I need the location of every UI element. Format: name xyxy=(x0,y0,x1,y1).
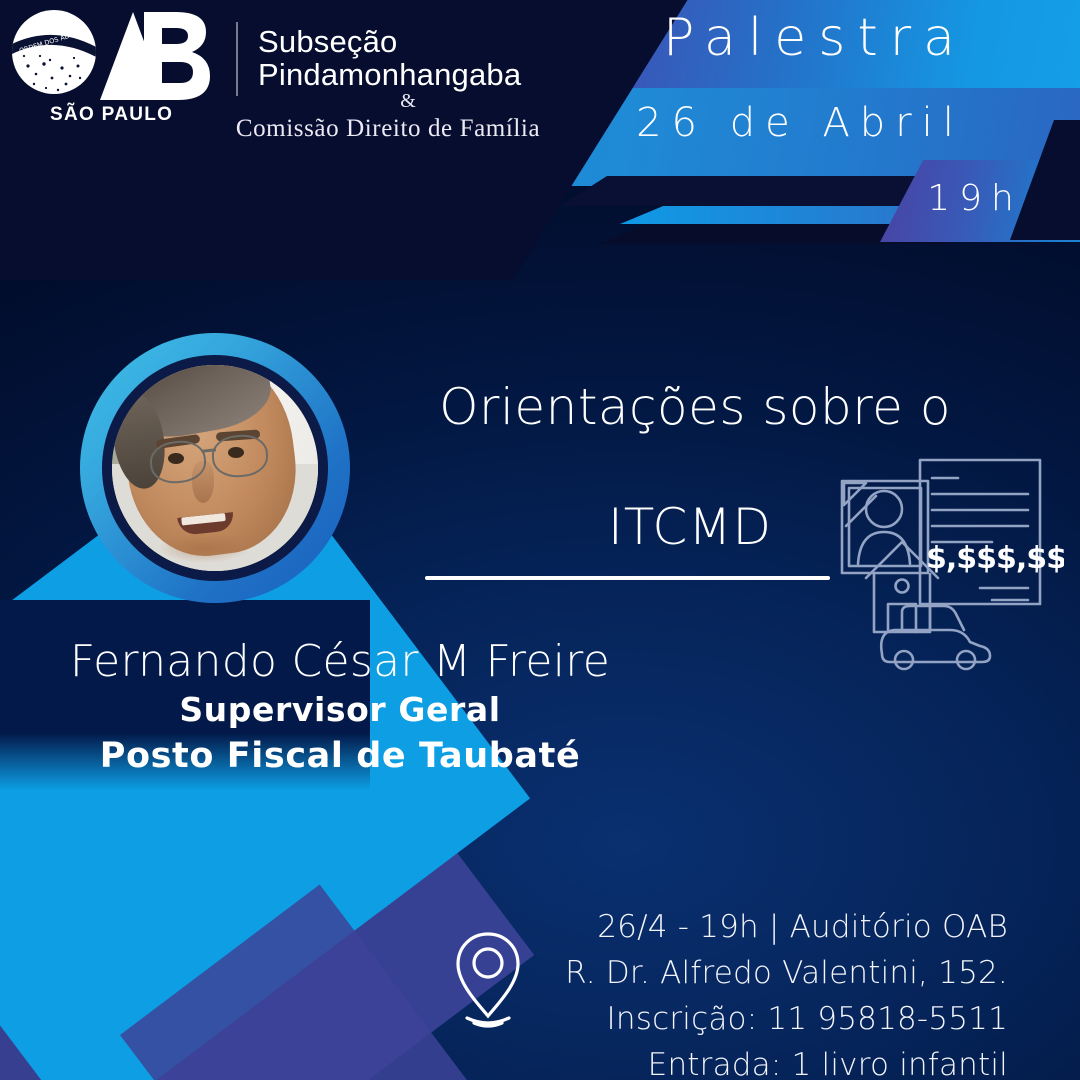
event-poster: ORDEM DOS ADVOGADOS DO BRASIL xyxy=(0,0,1080,1080)
event-date-label: 26 de Abril xyxy=(590,100,1010,146)
org-block: Subseção Pindamonhangaba & Comissão Dire… xyxy=(258,26,598,143)
speaker-avatar-inner-ring xyxy=(102,355,328,581)
org-line-2: Pindamonhangaba xyxy=(258,59,598,92)
speaker-name: Fernando César M Freire xyxy=(40,636,640,687)
oab-logo: ORDEM DOS ADVOGADOS DO BRASIL xyxy=(10,8,215,128)
event-type-label: Palestra xyxy=(600,8,1030,68)
speaker-photo xyxy=(112,365,318,571)
detail-line-entry: Entrada: 1 livro infantil xyxy=(548,1043,1008,1080)
event-time-label: 19h xyxy=(880,178,1070,219)
oab-letters-icon: ORDEM DOS ADVOGADOS DO BRASIL xyxy=(10,8,215,100)
location-pin-icon xyxy=(447,928,529,1032)
brand-divider xyxy=(236,22,238,96)
brand-header: ORDEM DOS ADVOGADOS DO BRASIL xyxy=(10,8,215,128)
commission-label: Comissão Direito de Família xyxy=(218,115,558,143)
money-amount-label: $,$$$,$$$ xyxy=(926,541,1064,576)
speaker-avatar-ring xyxy=(80,333,350,603)
speaker-unit: Posto Fiscal de Taubaté xyxy=(40,736,640,776)
detail-line-datetime-venue: 26/4 - 19h | Auditório OAB xyxy=(548,905,1008,951)
event-details: 26/4 - 19h | Auditório OAB R. Dr. Alfred… xyxy=(548,905,1008,1080)
speaker-role: Supervisor Geral xyxy=(40,690,640,729)
title-underline xyxy=(425,576,830,580)
oab-state-label: SÃO PAULO xyxy=(50,104,173,126)
ampersand-symbol: & xyxy=(258,90,558,113)
detail-line-address: R. Dr. Alfredo Valentini, 152. xyxy=(548,951,1008,997)
org-line-1: Subseção xyxy=(258,26,598,59)
lecture-title-line-1: Orientações sobre o xyxy=(390,378,1000,436)
detail-line-registration: Inscrição: 11 95818-5511 xyxy=(548,997,1008,1043)
assets-document-icon: $,$$$,$$$ xyxy=(832,446,1064,672)
